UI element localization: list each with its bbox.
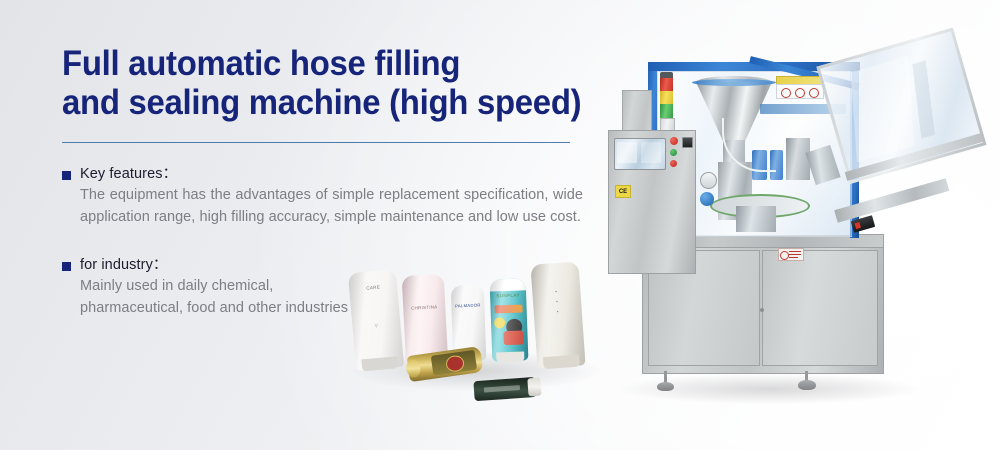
warning-label <box>778 248 804 261</box>
ce-warning-label: CE <box>615 185 631 198</box>
hopper-blue-trim <box>692 79 776 86</box>
stack-light-green <box>660 104 673 118</box>
selector-switch[interactable] <box>682 137 693 148</box>
key-features-block: Key features： The equipment has the adva… <box>62 165 592 228</box>
emergency-stop-button[interactable] <box>670 137 678 145</box>
hmi-screen-glare-2 <box>641 142 661 163</box>
machine-photo: CE <box>600 22 1000 422</box>
hmi-screen-glare <box>617 142 637 163</box>
stop-button[interactable] <box>670 160 677 167</box>
stack-light-yellow <box>660 91 673 104</box>
cabinet-lock[interactable] <box>760 308 764 312</box>
square-bullet-icon <box>62 262 71 271</box>
square-bullet-icon <box>62 171 71 180</box>
start-button[interactable] <box>670 149 677 156</box>
cabinet-door-right[interactable] <box>762 250 878 366</box>
leveling-foot <box>798 380 816 390</box>
list-item: ▪ ▪ ▪ <box>530 261 585 368</box>
list-item: SUNPLAY <box>490 278 529 361</box>
key-features-heading-row: Key features： <box>62 165 592 184</box>
stack-light-red <box>660 78 673 91</box>
pressure-gauge <box>700 172 717 189</box>
title-divider <box>62 142 570 143</box>
product-tubes-group: CARE ▽ CHRISTINA PALMADOR SUNPLAY <box>348 255 598 425</box>
leveling-foot <box>657 382 674 391</box>
key-features-text: The equipment has the advantages of simp… <box>80 184 583 228</box>
instruction-label <box>776 84 824 99</box>
for-industry-text: Mainly used in daily chemical, pharmaceu… <box>80 275 355 319</box>
for-industry-label: for industry： <box>80 256 168 275</box>
product-banner: Full automatic hose filling and sealing … <box>0 0 1000 450</box>
page-title-line1: Full automatic hose filling <box>62 44 560 83</box>
ce-label-text: CE <box>619 189 627 195</box>
list-item <box>473 377 538 401</box>
regulator-knob[interactable] <box>700 192 714 206</box>
list-item: CARE ▽ <box>348 269 404 371</box>
key-features-label: Key features： <box>80 165 177 184</box>
page-title-line2: and sealing machine (high speed) <box>62 83 560 122</box>
turret-column <box>736 206 776 232</box>
